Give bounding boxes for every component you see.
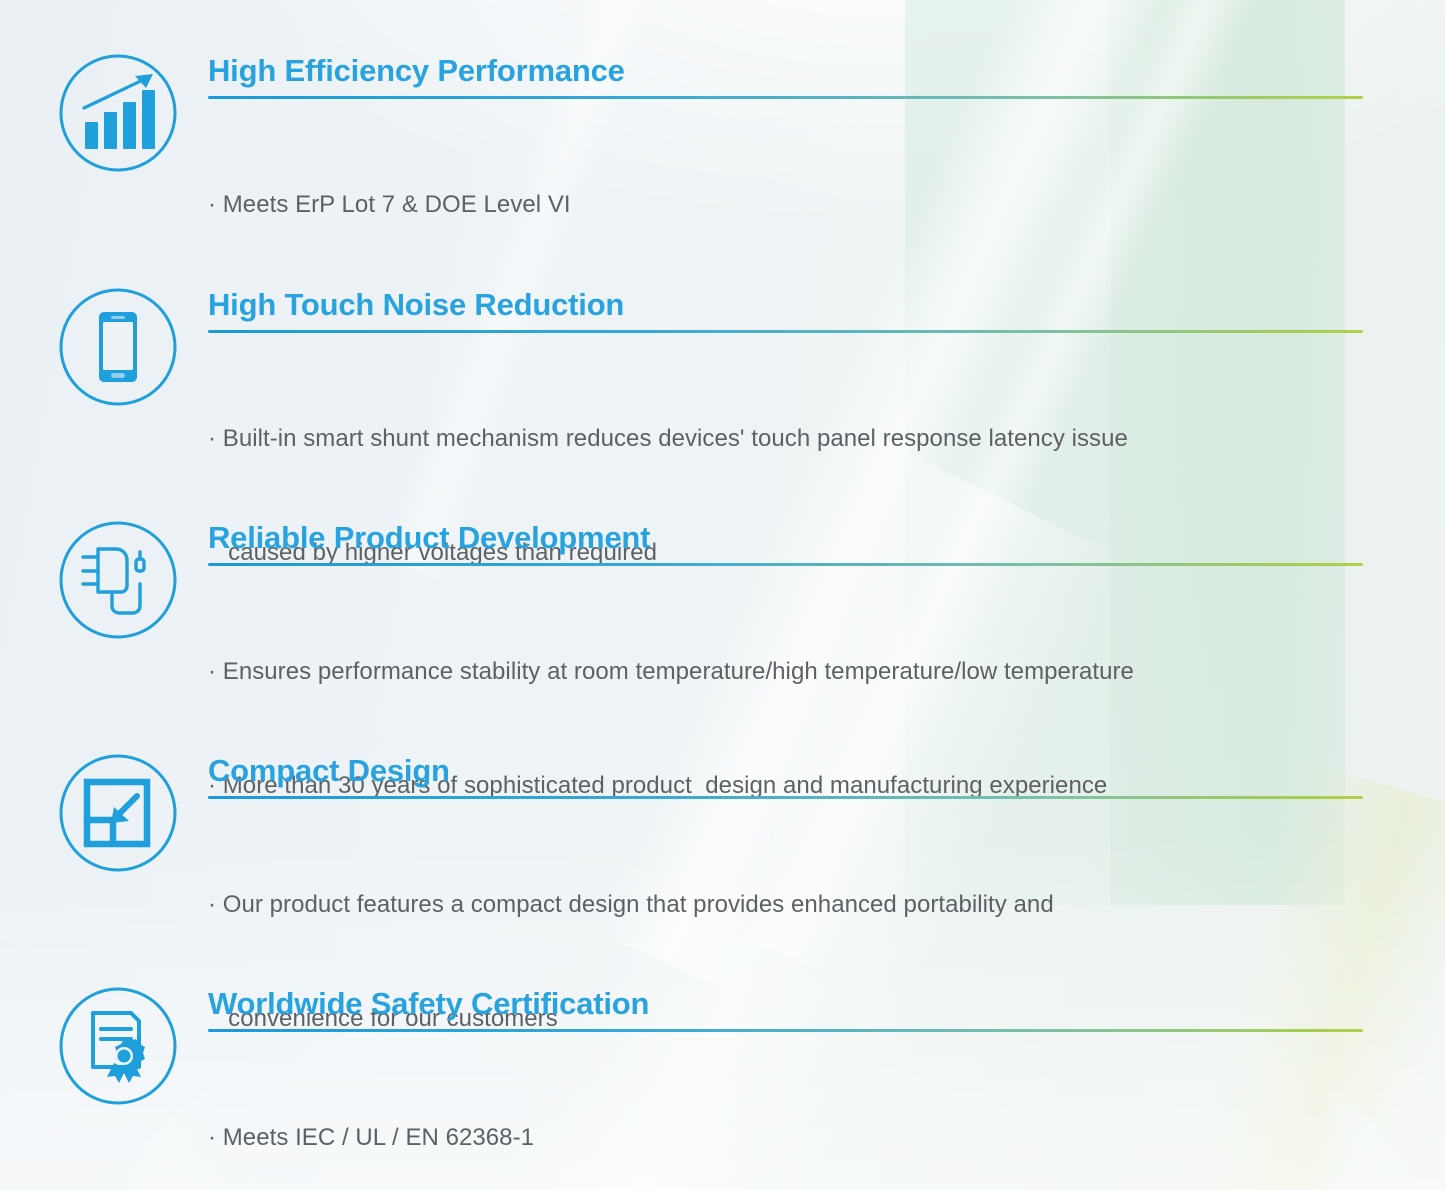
certificate-award-icon <box>57 985 179 1107</box>
feature-divider <box>208 96 1363 99</box>
compact-resize-icon <box>57 752 179 874</box>
feature-divider <box>208 563 1363 566</box>
feature-list-page: High Efficiency Performance · Meets ErP … <box>0 0 1445 1190</box>
feature-description-line: · Our product features a compact design … <box>208 886 1385 924</box>
feature-divider <box>208 796 1363 799</box>
feature-divider <box>208 330 1363 333</box>
feature-description-line: · Built-in smart shunt mechanism reduces… <box>208 420 1385 458</box>
power-adapter-icon <box>57 519 179 641</box>
feature-body: High Efficiency Performance · Meets ErP … <box>208 52 1385 300</box>
feature-title: Compact Design <box>208 752 1385 790</box>
feature-list: High Efficiency Performance · Meets ErP … <box>0 0 1445 1190</box>
feature-description: · Meets ErP Lot 7 & DOE Level VI <box>208 110 1385 300</box>
feature-description: · Meets IEC / UL / EN 62368-1 <box>208 1043 1385 1190</box>
feature-title: Reliable Product Development <box>208 519 1385 557</box>
bar-chart-growth-icon <box>57 52 179 174</box>
smartphone-icon <box>57 286 179 408</box>
feature-divider <box>208 1029 1363 1032</box>
feature-body: Worldwide Safety Certification · Meets I… <box>208 985 1385 1190</box>
feature-title: High Efficiency Performance <box>208 52 1385 90</box>
feature-description-line: · Meets IEC / UL / EN 62368-1 <box>208 1119 1385 1157</box>
feature-description-line: · Ensures performance stability at room … <box>208 653 1385 691</box>
feature-title: Worldwide Safety Certification <box>208 985 1385 1023</box>
feature-description-line: · Meets ErP Lot 7 & DOE Level VI <box>208 186 1385 224</box>
feature-title: High Touch Noise Reduction <box>208 286 1385 324</box>
